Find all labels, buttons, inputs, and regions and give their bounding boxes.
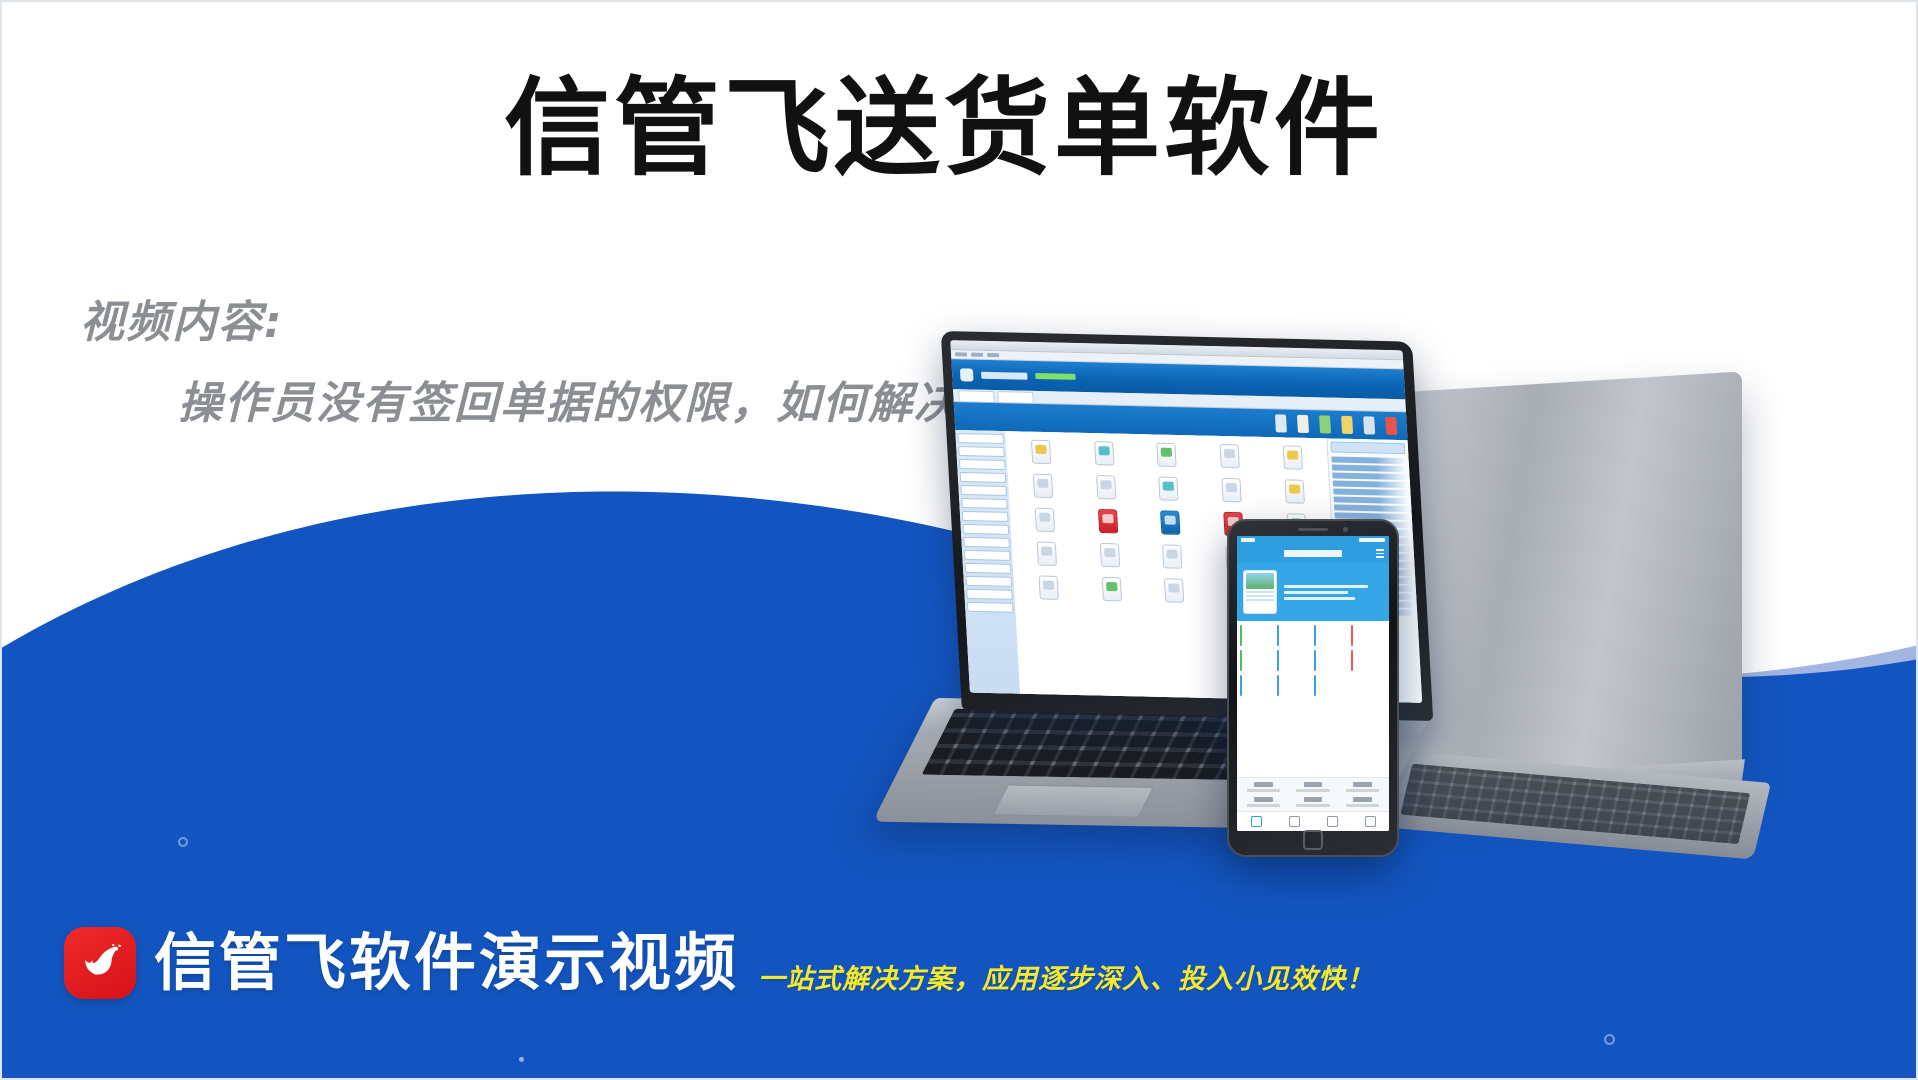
toolbar-icon-5 [1363,416,1375,434]
app-brand-text [981,371,1028,379]
grid-icon [1157,443,1177,467]
mobile-grid-icon[interactable] [1314,650,1316,671]
hamburger-menu-icon[interactable] [1376,549,1384,558]
footer-tagline: 一站式解决方案，应用逐步深入、投入小见效快！ [758,957,1374,996]
grid-icon [1220,444,1240,468]
stat-cell [1339,782,1386,792]
mobile-grid-icon[interactable] [1277,675,1279,696]
toolbar-icon-2 [1297,415,1309,433]
grid-icon [1222,478,1242,502]
brand-logo [64,927,136,999]
grid-icon [1094,441,1114,465]
stat-cell [1339,797,1386,807]
closed-laptop-rear [1397,371,1742,792]
mobile-grid-icon[interactable] [1314,675,1316,696]
hero-text-lines [1284,585,1383,600]
hero-phone-illustration [1243,570,1277,614]
decorative-dot [1604,1034,1615,1045]
nav-home-icon[interactable] [1251,816,1262,827]
toolbar-icon-4 [1341,416,1353,434]
mobile-grid-icon[interactable] [1314,625,1316,646]
stat-cell [1240,782,1287,792]
nav-scan-icon[interactable] [1289,816,1300,827]
grid-icon [1038,575,1058,599]
toolbar-icon-6 [1385,417,1397,435]
video-content-block: 视频内容: 操作员没有签回单据的权限，如何解决？ [80,290,1006,438]
mobile-hero-banner [1237,563,1389,621]
device-showcase [882,374,1882,954]
mobile-icon-grid [1237,621,1389,777]
video-content-label: 视频内容: [80,290,1006,357]
toolbar-icon-3 [1319,415,1331,433]
app-logo-icon [960,368,974,381]
smartphone [1227,519,1399,857]
mobile-app-header [1237,544,1389,563]
stat-cell [1240,797,1287,807]
grid-icon [1283,445,1303,469]
mobile-grid-icon[interactable] [1240,625,1242,646]
decorative-dot [178,837,188,847]
mobile-grid-icon[interactable] [1351,650,1353,671]
grid-icon [1035,508,1055,532]
mobile-app-screenshot [1237,536,1389,831]
grid-icon [1101,577,1121,601]
phone-speaker [1298,528,1328,531]
stat-cell [1289,782,1336,792]
mobile-app-title [1284,550,1342,557]
mobile-grid-icon[interactable] [1240,675,1242,696]
grid-icon [1159,476,1179,500]
grid-icon [1031,440,1051,464]
grid-icon [1285,479,1305,503]
grid-icon [1162,544,1182,568]
decorative-dot [519,1057,524,1062]
phone-home-button[interactable] [1303,830,1323,850]
grid-icon [1037,542,1057,566]
nav-profile-icon[interactable] [1365,816,1376,827]
bird-logo-icon [75,938,125,988]
mobile-bottom-nav [1237,811,1389,831]
app-subbrand-text [1035,373,1075,380]
footer-brand-text: 信管飞软件演示视频 [154,927,739,999]
grid-icon [1096,475,1116,499]
toolbar-icon-1 [1275,414,1287,432]
presentation-slide: 信管飞送货单软件 视频内容: 操作员没有签回单据的权限，如何解决？ [0,0,1918,1080]
mobile-grid-icon[interactable] [1240,650,1242,671]
grid-icon [1164,578,1184,602]
mobile-grid-icon[interactable] [1277,650,1279,671]
laptop-trackpad [992,784,1154,817]
nav-report-icon[interactable] [1327,816,1338,827]
grid-icon [1098,509,1118,533]
mobile-stats-panel [1237,777,1389,811]
mobile-grid-icon[interactable] [1351,625,1353,646]
page-title: 信管飞送货单软件 [0,64,1901,193]
grid-icon [1099,543,1119,567]
phone-camera-icon [1343,527,1348,532]
mobile-grid-icon[interactable] [1277,625,1279,646]
stat-cell [1289,797,1336,807]
grid-icon [1161,510,1181,534]
grid-icon [1033,474,1053,498]
phone-statusbar [1237,536,1389,544]
